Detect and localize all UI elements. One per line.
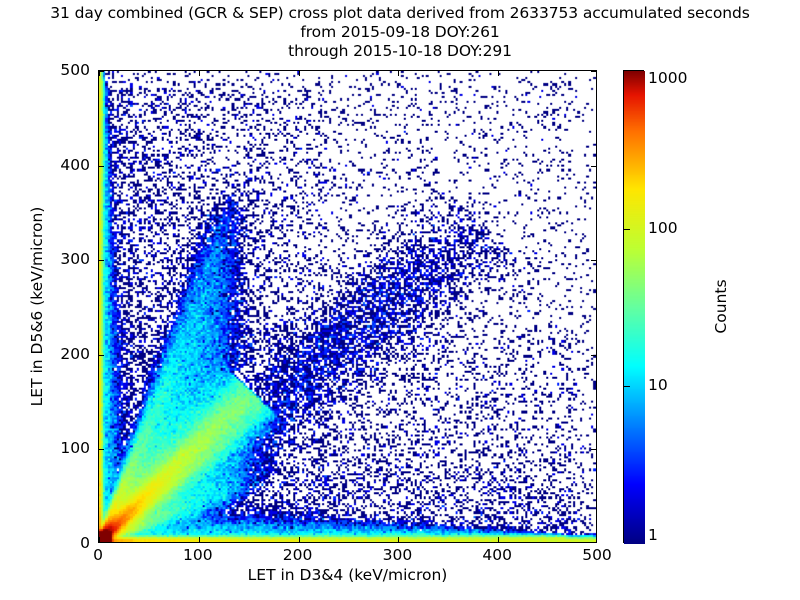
y-tick-mark [591, 260, 596, 261]
y-tick-mark [591, 166, 596, 167]
x-tick-mark [199, 537, 200, 542]
title-line-2: from 2015-09-18 DOY:261 [0, 23, 800, 42]
y-tick-mark [591, 71, 596, 72]
x-tick-mark [498, 537, 499, 542]
x-tick-mark [398, 537, 399, 542]
colorbar-tick-label: 1 [648, 526, 658, 544]
colorbar-label: Counts [712, 70, 730, 543]
y-tick-mark [591, 355, 596, 356]
title-line-3: through 2015-10-18 DOY:291 [0, 42, 800, 61]
x-tick-mark [299, 537, 300, 542]
y-tick-mark [99, 166, 104, 167]
x-tick-mark [299, 71, 300, 76]
colorbar-gradient [624, 71, 645, 544]
colorbar-tick-mark [624, 229, 630, 230]
x-tick-mark [99, 537, 100, 542]
x-tick-label: 100 [183, 546, 213, 564]
colorbar-tick-label: 10 [648, 376, 668, 394]
x-tick-mark [498, 71, 499, 76]
x-axis-label: LET in D3&4 (keV/micron) [98, 566, 597, 584]
figure-canvas: 31 day combined (GCR & SEP) cross plot d… [0, 0, 800, 600]
colorbar-tick-label: 100 [648, 219, 678, 237]
x-tick-label: 400 [482, 546, 512, 564]
x-tick-label: 0 [93, 546, 103, 564]
y-tick-mark [591, 449, 596, 450]
y-tick-mark [99, 260, 104, 261]
chart-title: 31 day combined (GCR & SEP) cross plot d… [0, 4, 800, 61]
plot-axes [98, 70, 597, 543]
x-tick-mark [398, 71, 399, 76]
x-tick-label: 300 [383, 546, 413, 564]
colorbar-tick-label: 1000 [648, 69, 687, 87]
title-line-1: 31 day combined (GCR & SEP) cross plot d… [0, 4, 800, 23]
x-tick-label: 200 [283, 546, 313, 564]
y-tick-mark [99, 71, 104, 72]
colorbar-tick-mark [624, 386, 630, 387]
x-tick-label: 500 [582, 546, 612, 564]
scatter-heatmap-canvas [99, 71, 596, 542]
y-axis-label: LET in D5&6 (keV/micron) [28, 70, 46, 543]
colorbar [623, 70, 644, 543]
y-tick-mark [99, 449, 104, 450]
x-tick-mark [199, 71, 200, 76]
y-tick-mark [99, 355, 104, 356]
